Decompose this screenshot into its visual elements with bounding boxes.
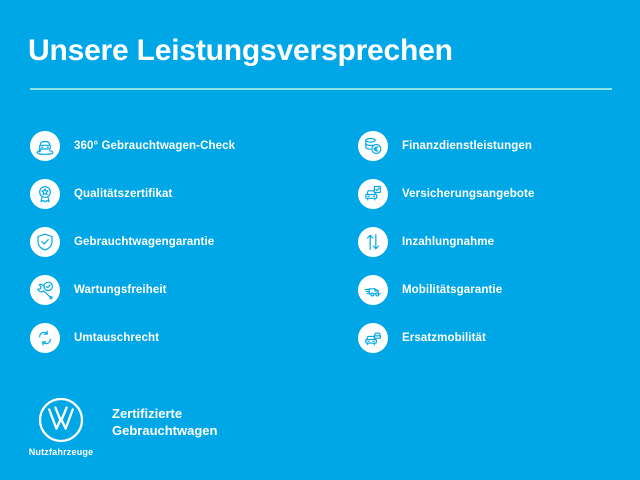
shield-check-icon bbox=[30, 227, 60, 257]
feature-label: Inzahlungnahme bbox=[402, 235, 494, 249]
page-title: Unsere Leistungsversprechen bbox=[28, 32, 453, 70]
feature-item-inzahlungnahme[interactable]: Inzahlungnahme bbox=[358, 218, 640, 266]
up-down-arrows-icon bbox=[358, 227, 388, 257]
tow-van-icon bbox=[358, 275, 388, 305]
feature-item-mobilitaetsgarantie[interactable]: Mobilitätsgarantie bbox=[358, 266, 640, 314]
feature-label: Wartungsfreiheit bbox=[74, 283, 167, 297]
brand-sub-label: Nutzfahrzeuge bbox=[29, 447, 94, 457]
car-360-check-icon bbox=[30, 131, 60, 161]
brand-lockup: Nutzfahrzeuge Zertifizierte Gebrauchtwag… bbox=[28, 396, 217, 457]
car-document-check-icon bbox=[358, 179, 388, 209]
two-cars-icon bbox=[358, 323, 388, 353]
feature-label: Mobilitätsgarantie bbox=[402, 283, 502, 297]
feature-column-left: 360° Gebrauchtwagen-Check Qualitätszerti… bbox=[30, 122, 330, 362]
feature-label: Gebrauchtwagengarantie bbox=[74, 235, 214, 249]
feature-item-wartungsfreiheit[interactable]: Wartungsfreiheit bbox=[30, 266, 330, 314]
coins-euro-icon bbox=[358, 131, 388, 161]
promise-slide: Unsere Leistungsversprechen 360° Gebrauc… bbox=[0, 0, 640, 480]
feature-label: Finanzdienstleistungen bbox=[402, 139, 532, 153]
feature-label: Versicherungsangebote bbox=[402, 187, 534, 201]
exchange-arrows-icon bbox=[30, 323, 60, 353]
feature-item-gebrauchtwagengarantie[interactable]: Gebrauchtwagengarantie bbox=[30, 218, 330, 266]
feature-label: Qualitätszertifikat bbox=[74, 187, 172, 201]
award-rosette-icon bbox=[30, 179, 60, 209]
feature-label: Ersatzmobilität bbox=[402, 331, 486, 345]
feature-item-qualitaetszertifikat[interactable]: Qualitätszertifikat bbox=[30, 170, 330, 218]
brand-claim: Zertifizierte Gebrauchtwagen bbox=[112, 405, 217, 439]
feature-item-versicherungsangebote[interactable]: Versicherungsangebote bbox=[358, 170, 640, 218]
feature-item-finanzdienstleistungen[interactable]: Finanzdienstleistungen bbox=[358, 122, 640, 170]
feature-item-umtauschrecht[interactable]: Umtauschrecht bbox=[30, 314, 330, 362]
feature-label: Umtauschrecht bbox=[74, 331, 159, 345]
brand-claim-line-2: Gebrauchtwagen bbox=[112, 422, 217, 439]
wrench-check-icon bbox=[30, 275, 60, 305]
feature-label: 360° Gebrauchtwagen-Check bbox=[74, 139, 235, 153]
feature-item-ersatzmobilitaet[interactable]: Ersatzmobilität bbox=[358, 314, 640, 362]
brand-mark: Nutzfahrzeuge bbox=[28, 396, 94, 457]
feature-column-right: Finanzdienstleistungen Versicheru bbox=[358, 122, 640, 362]
title-divider bbox=[30, 88, 612, 90]
feature-columns: 360° Gebrauchtwagen-Check Qualitätszerti… bbox=[0, 122, 640, 372]
brand-claim-line-1: Zertifizierte bbox=[112, 405, 217, 422]
vw-logo bbox=[37, 396, 85, 444]
feature-item-gebrauchtwagen-check[interactable]: 360° Gebrauchtwagen-Check bbox=[30, 122, 330, 170]
